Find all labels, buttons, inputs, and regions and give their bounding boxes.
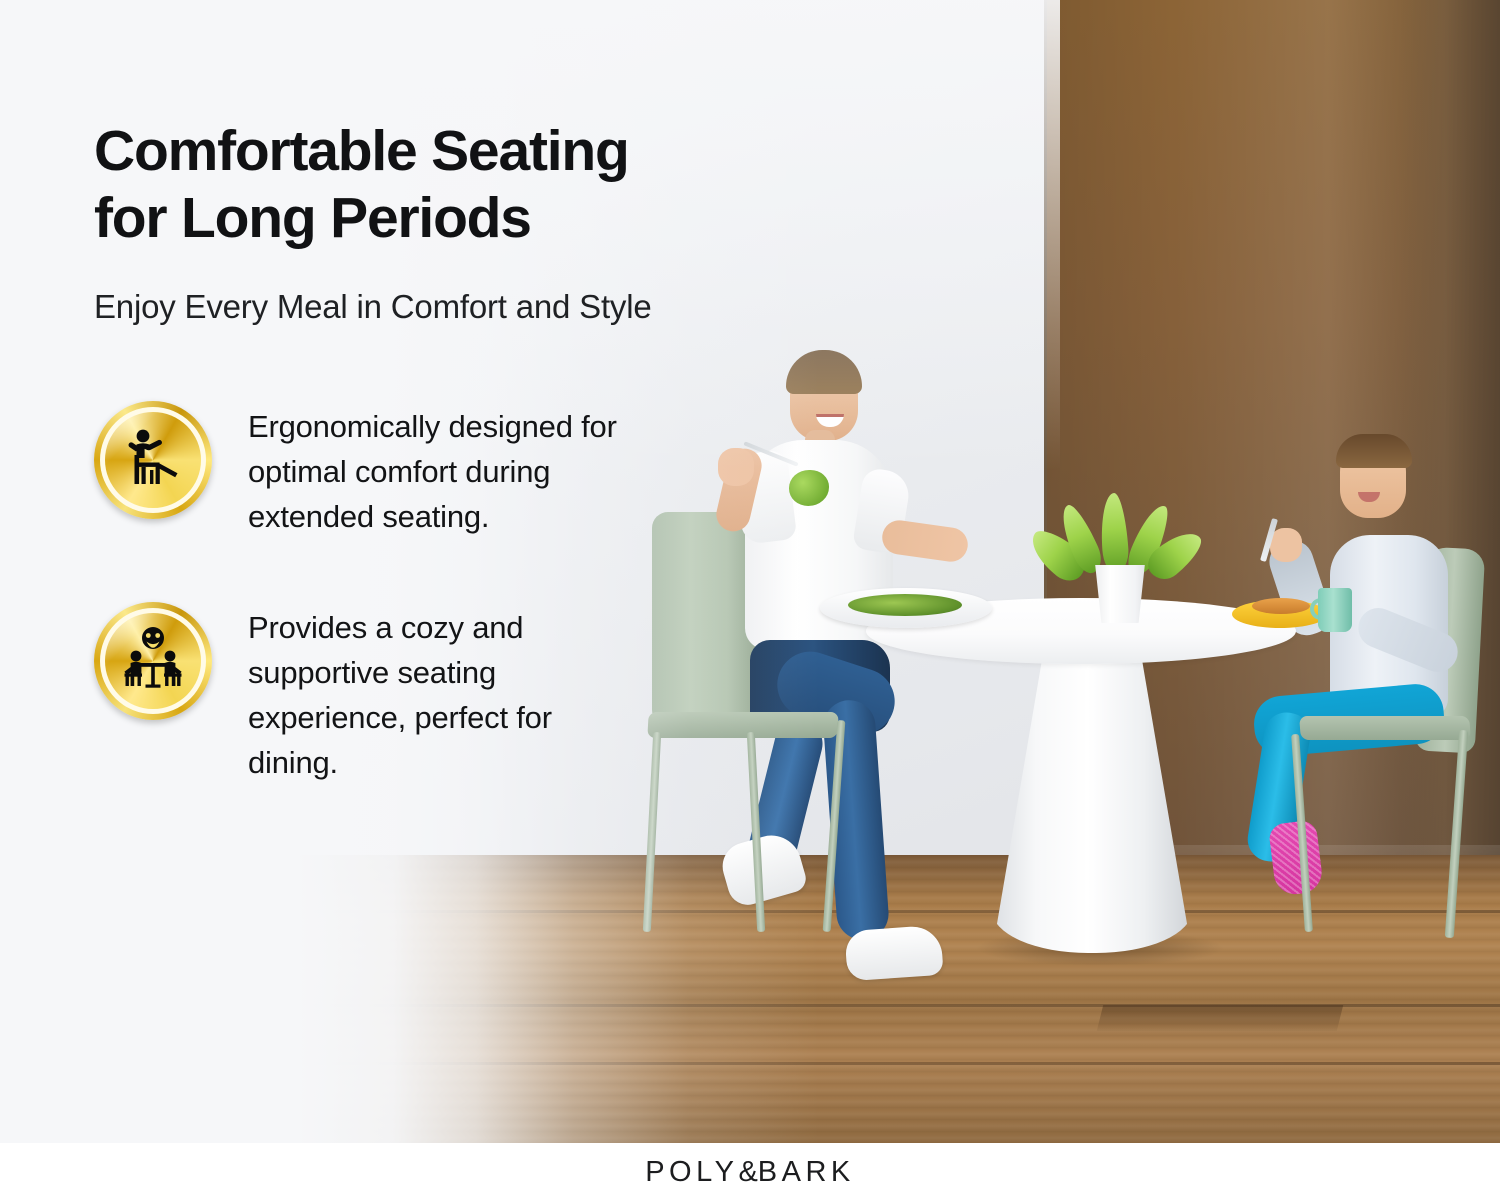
headline-line-2: for Long Periods [94,186,531,250]
woman-white-shoe-floor [844,925,943,982]
feature-item: Provides a cozy and supportive seating e… [94,602,680,786]
feature-list: Ergonomically designed for optimal comfo… [94,401,680,786]
product-feature-banner: Comfortable Seating for Long Periods Enj… [0,0,1500,1201]
brown-wall-shadow-edge [1400,0,1500,905]
text-panel: Comfortable Seating for Long Periods Enj… [0,0,680,1143]
page-title: Comfortable Seating for Long Periods [94,118,654,251]
gold-badge [94,401,212,519]
brand-name-right: BARK [758,1156,855,1188]
gold-badge [94,602,212,720]
two-people-dining-at-table-icon [117,625,189,697]
page-subtitle: Enjoy Every Meal in Comfort and Style [94,285,669,329]
girl-hand-holding-fork [1270,528,1302,562]
feature-item: Ergonomically designed for optimal comfo… [94,401,680,540]
brand-footer: POLY&BARK [0,1143,1500,1201]
dining-chair-right-seat [1299,716,1471,740]
pasta-in-bowl [1252,598,1310,614]
mint-mug [1318,588,1352,632]
brand-name-left: POLY [645,1156,738,1188]
brand-logo: POLY&BARK [645,1156,855,1189]
salad-on-plate [848,594,962,616]
feature-description: Provides a cozy and supportive seating e… [248,602,628,786]
girl-hair-fringe [1336,434,1412,468]
person-relaxing-in-chair-icon [117,424,189,496]
floor-plank-joint [1097,1005,1343,1031]
feature-description: Ergonomically designed for optimal comfo… [248,401,628,540]
brand-ampersand: & [738,1156,757,1188]
headline-line-1: Comfortable Seating [94,119,629,183]
